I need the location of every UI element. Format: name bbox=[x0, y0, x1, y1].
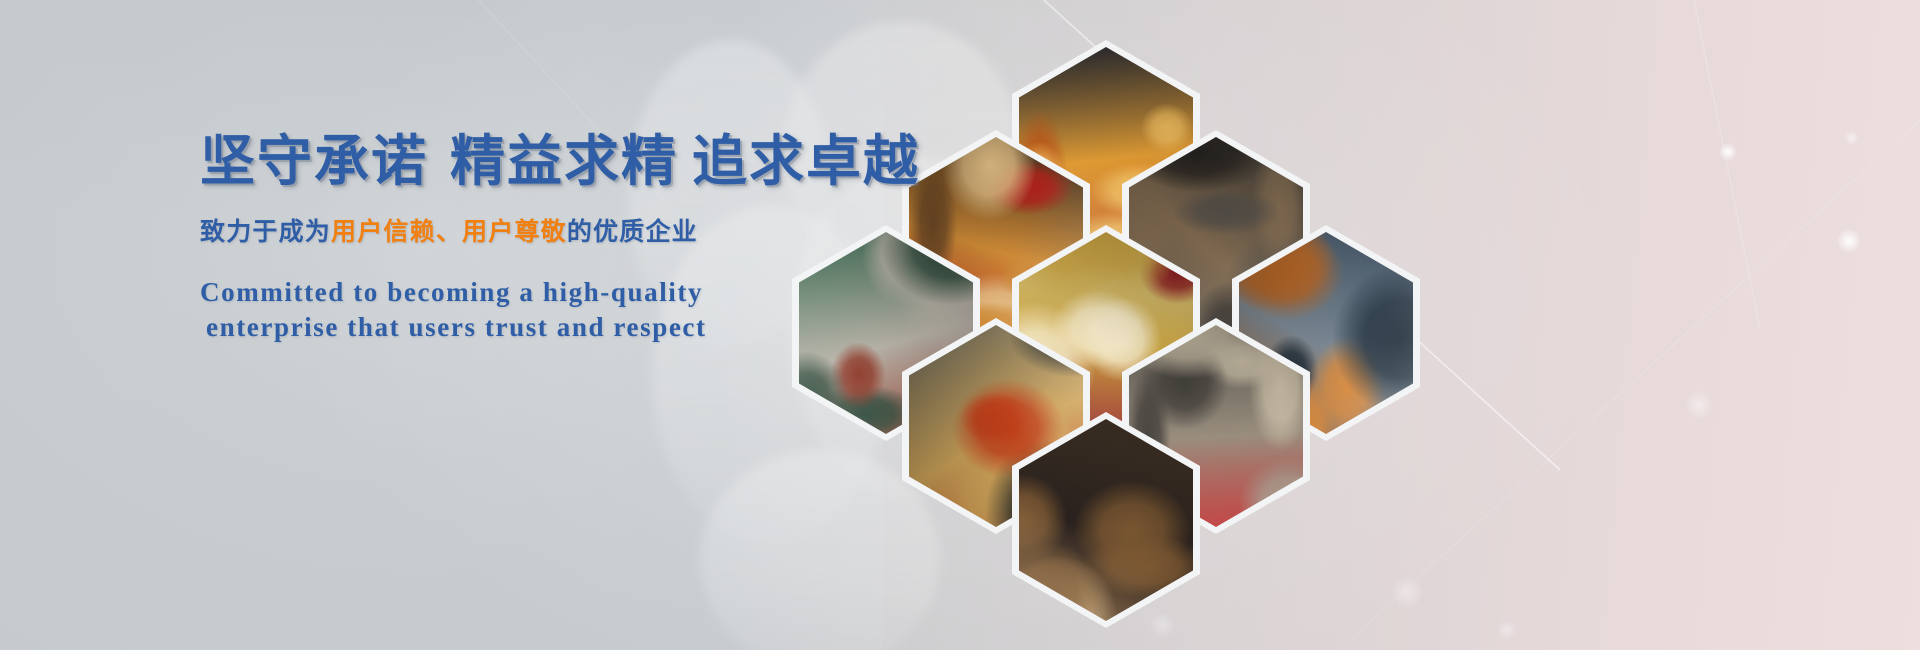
banner-subtitle: 致力于成为用户信赖、用户尊敬的优质企业 bbox=[200, 212, 960, 248]
subtitle-lead: 致力于成为 bbox=[200, 218, 331, 246]
page-title: 坚守承诺精益求精追求卓越 bbox=[200, 132, 960, 190]
bokeh-dot bbox=[1498, 620, 1516, 640]
subtitle-tail: 的优质企业 bbox=[567, 218, 698, 246]
promo-banner: 坚守承诺精益求精追求卓越 致力于成为用户信赖、用户尊敬的优质企业 Committ… bbox=[0, 0, 1920, 650]
bokeh-dot bbox=[1686, 390, 1712, 420]
bokeh-dot bbox=[1720, 142, 1736, 162]
subtitle-highlight-1: 用户信赖 bbox=[331, 218, 436, 246]
english-line-2: enterprise that users trust and respect bbox=[200, 310, 960, 345]
subtitle-highlight-2: 用户尊敬 bbox=[462, 218, 567, 246]
banner-subtitle-english: Committed to becoming a high-quality ent… bbox=[200, 275, 960, 345]
bokeh-dot bbox=[1838, 228, 1860, 254]
headline-part-2: 精益求精 bbox=[450, 130, 678, 192]
hex-rotor-blades-closeup-scene bbox=[1019, 419, 1193, 621]
bokeh-dot bbox=[1845, 130, 1858, 146]
headline-part-1: 坚守承诺 bbox=[200, 130, 428, 192]
hex-rotor-blades-closeup-image bbox=[1019, 419, 1193, 621]
bokeh-dot bbox=[1392, 575, 1422, 609]
headline-part-3: 追求卓越 bbox=[692, 130, 920, 192]
banner-copy-block: 坚守承诺精益求精追求卓越 致力于成为用户信赖、用户尊敬的优质企业 Committ… bbox=[200, 132, 960, 345]
english-line-1: Committed to becoming a high-quality bbox=[200, 277, 703, 307]
subtitle-separator: 、 bbox=[436, 218, 462, 246]
bokeh-dot bbox=[1150, 612, 1174, 638]
